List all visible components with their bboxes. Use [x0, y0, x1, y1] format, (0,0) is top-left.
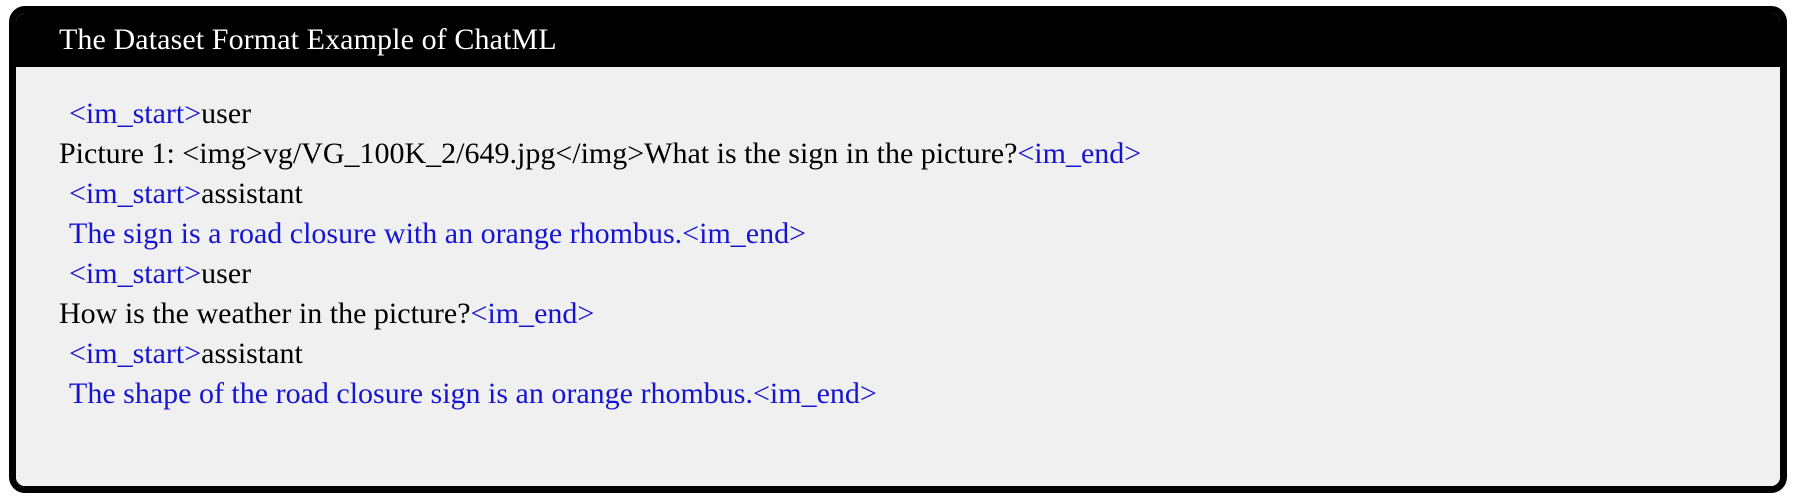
conversation-line: <im_start>user [59, 94, 1760, 134]
plain-text: Picture 1: <img>vg/VG_100K_2/649.jpg</im… [59, 137, 1017, 170]
conversation-line: How is the weather in the picture?<im_en… [59, 294, 1760, 334]
conversation-line: <im_start>assistant [59, 174, 1760, 214]
conversation-line: The sign is a road closure with an orang… [59, 214, 1760, 254]
conversation-line: Picture 1: <img>vg/VG_100K_2/649.jpg</im… [59, 134, 1760, 174]
special-token-text: <im_start> [69, 257, 201, 290]
special-token-text: <im_start> [69, 177, 201, 210]
page-title: The Dataset Format Example of ChatML [59, 25, 557, 55]
plain-text: assistant [201, 177, 303, 210]
page-root: The Dataset Format Example of ChatML <im… [0, 0, 1796, 502]
special-token-text: <im_end> [471, 297, 595, 330]
plain-text: How is the weather in the picture? [59, 297, 471, 330]
conversation-line: The shape of the road closure sign is an… [59, 374, 1760, 414]
plain-text: user [201, 257, 251, 290]
plain-text: assistant [201, 337, 303, 370]
conversation-body: <im_start>userPicture 1: <img>vg/VG_100K… [16, 67, 1780, 486]
special-token-text: <im_start> [69, 97, 201, 130]
special-token-text: The shape of the road closure sign is an… [69, 377, 877, 410]
chatml-example-card: The Dataset Format Example of ChatML <im… [9, 6, 1787, 493]
plain-text: user [201, 97, 251, 130]
special-token-text: <im_start> [69, 337, 201, 370]
special-token-text: <im_end> [1017, 137, 1141, 170]
conversation-line: <im_start>assistant [59, 334, 1760, 374]
card-header: The Dataset Format Example of ChatML [16, 13, 1780, 67]
special-token-text: The sign is a road closure with an orang… [69, 217, 806, 250]
conversation-line: <im_start>user [59, 254, 1760, 294]
conversation-line-list: <im_start>userPicture 1: <img>vg/VG_100K… [59, 94, 1760, 414]
